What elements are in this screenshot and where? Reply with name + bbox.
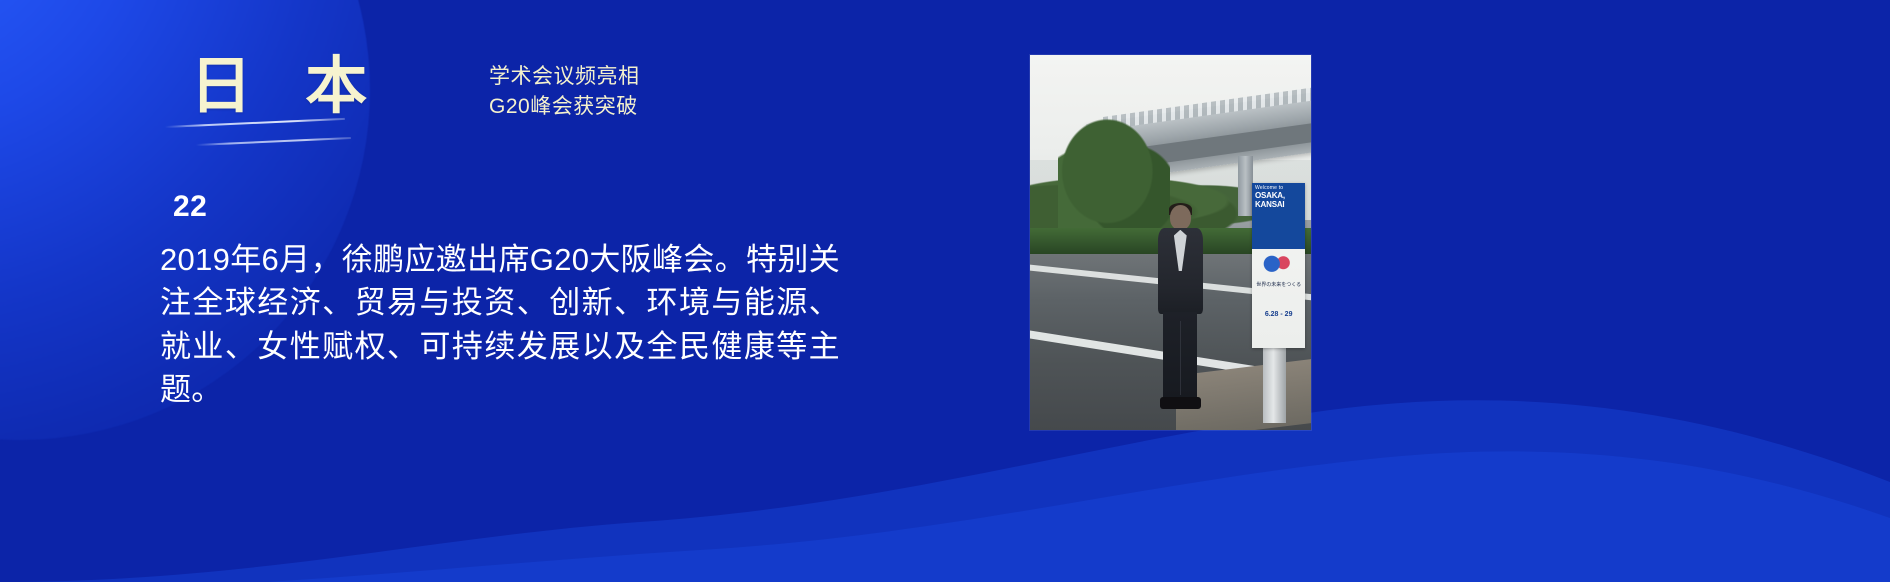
photo-person-head (1170, 205, 1191, 230)
photo-sign-header: Welcome to OSAKA, KANSAI (1252, 183, 1305, 249)
page-title: 日 本 (190, 56, 385, 118)
g20-logo-icon (1261, 253, 1297, 279)
photo-content: Welcome to OSAKA, KANSAI 世界の未来をつくる 6.28 … (1030, 55, 1311, 430)
photo-welcome-sign: Welcome to OSAKA, KANSAI 世界の未来をつくる 6.28 … (1252, 183, 1305, 348)
body-paragraph: 2019年6月，徐鹏应邀出席G20大阪峰会。特别关注全球经济、贸易与投资、创新、… (160, 238, 840, 412)
photo-sign-city-line-2: KANSAI (1255, 200, 1303, 209)
photo: Welcome to OSAKA, KANSAI 世界の未来をつくる 6.28 … (1030, 55, 1311, 430)
subtitle-line-1: 学术会议频亮相 (489, 62, 640, 92)
photo-person-shoes (1160, 397, 1201, 409)
photo-person-leg-split (1180, 321, 1182, 395)
photo-sign-city-line-1: OSAKA, (1255, 191, 1303, 200)
subtitle-line-2: G20峰会获突破 (489, 92, 640, 122)
slide-subtitle: 学术会议频亮相 G20峰会获突破 (489, 62, 640, 122)
photo-sign-date: 6.28 - 29 (1255, 311, 1302, 318)
slide-title: 日 本 (190, 56, 385, 118)
item-number: 22 (173, 192, 207, 222)
photo-sign-japanese-text: 世界の未来をつくる (1255, 282, 1302, 308)
photo-sign-pole (1263, 340, 1285, 423)
presentation-slide: 日 本 学术会议频亮相 G20峰会获突破 22 2019年6月，徐鹏应邀出席G2… (0, 0, 1890, 582)
photo-person (1154, 205, 1207, 411)
